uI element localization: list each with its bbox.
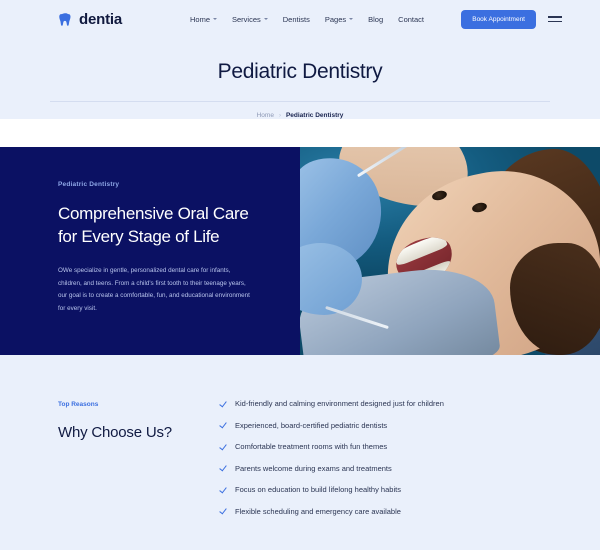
- check-icon: [220, 421, 227, 428]
- nav-item-services[interactable]: Services: [232, 15, 268, 24]
- brand-logo[interactable]: dentia: [58, 11, 122, 28]
- nav-label: Contact: [398, 15, 424, 24]
- page-root: dentia Home Services Dentists Pages Blog: [0, 0, 600, 550]
- hero-body-text: OWe specialize in gentle, personalized d…: [58, 265, 254, 315]
- list-item-label: Experienced, board-certified pediatric d…: [235, 421, 387, 430]
- chevron-down-icon: [264, 18, 268, 20]
- list-item-label: Parents welcome during exams and treatme…: [235, 464, 392, 473]
- check-icon: [220, 400, 227, 407]
- why-title: Why Choose Us?: [58, 424, 220, 441]
- breadcrumb-separator-icon: ›: [279, 113, 281, 119]
- header-actions: Book Appointment: [461, 10, 562, 29]
- page-title: Pediatric Dentistry: [0, 60, 600, 84]
- section-spacer: [0, 119, 600, 147]
- nav-item-dentists[interactable]: Dentists: [283, 15, 310, 24]
- nav-label: Blog: [368, 15, 383, 24]
- nav-label: Services: [232, 15, 261, 24]
- list-item: Focus on education to build lifelong hea…: [220, 485, 578, 494]
- why-heading-block: Top Reasons Why Choose Us?: [58, 399, 220, 528]
- nav-item-pages[interactable]: Pages: [325, 15, 353, 24]
- check-icon: [220, 443, 227, 450]
- nav-label: Home: [190, 15, 210, 24]
- main-nav: Home Services Dentists Pages Blog Contac…: [190, 15, 424, 24]
- child-in-dental-chair-photo: [300, 147, 600, 355]
- list-item: Kid-friendly and calming environment des…: [220, 399, 578, 408]
- tooth-icon: [58, 12, 73, 27]
- list-item-label: Focus on education to build lifelong hea…: [235, 485, 401, 494]
- why-choose-us-section: Top Reasons Why Choose Us? Kid-friendly …: [0, 355, 600, 528]
- list-item-label: Kid-friendly and calming environment des…: [235, 399, 444, 408]
- why-eyebrow: Top Reasons: [58, 401, 220, 408]
- check-icon: [220, 464, 227, 471]
- list-item-label: Comfortable treatment rooms with fun the…: [235, 442, 387, 451]
- hero-content: Pediatric Dentistry Comprehensive Oral C…: [0, 147, 300, 355]
- list-item: Comfortable treatment rooms with fun the…: [220, 442, 578, 451]
- check-icon: [220, 486, 227, 493]
- hamburger-icon[interactable]: [548, 16, 562, 22]
- nav-item-blog[interactable]: Blog: [368, 15, 383, 24]
- why-reasons-list: Kid-friendly and calming environment des…: [220, 399, 578, 528]
- chevron-down-icon: [213, 18, 217, 20]
- book-appointment-button[interactable]: Book Appointment: [461, 10, 536, 29]
- list-item: Flexible scheduling and emergency care a…: [220, 507, 578, 516]
- list-item-label: Flexible scheduling and emergency care a…: [235, 507, 401, 516]
- hero-image: [300, 147, 600, 355]
- nav-label: Pages: [325, 15, 346, 24]
- nav-label: Dentists: [283, 15, 310, 24]
- brand-name: dentia: [79, 11, 122, 28]
- breadcrumb-current: Pediatric Dentistry: [286, 112, 343, 119]
- page-title-block: Pediatric Dentistry Home › Pediatric Den…: [0, 38, 600, 119]
- breadcrumb-home[interactable]: Home: [257, 112, 274, 119]
- nav-item-home[interactable]: Home: [190, 15, 217, 24]
- site-header: dentia Home Services Dentists Pages Blog: [0, 0, 600, 38]
- list-item: Experienced, board-certified pediatric d…: [220, 421, 578, 430]
- breadcrumb: Home › Pediatric Dentistry: [0, 102, 600, 119]
- list-item: Parents welcome during exams and treatme…: [220, 464, 578, 473]
- chevron-down-icon: [349, 18, 353, 20]
- hero-eyebrow: Pediatric Dentistry: [58, 181, 254, 188]
- check-icon: [220, 507, 227, 514]
- nav-item-contact[interactable]: Contact: [398, 15, 424, 24]
- hero-heading: Comprehensive Oral Care for Every Stage …: [58, 202, 254, 249]
- hero-section: Pediatric Dentistry Comprehensive Oral C…: [0, 147, 600, 355]
